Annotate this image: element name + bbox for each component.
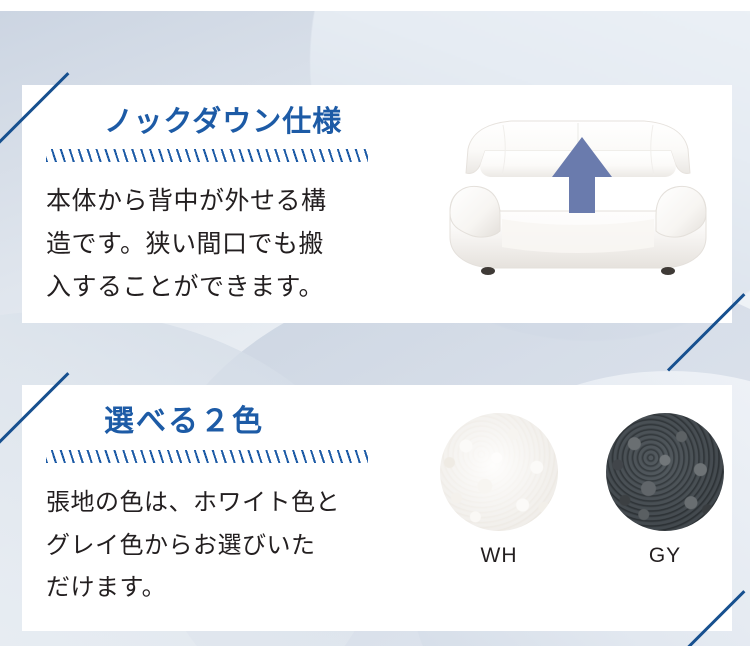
knockdown-heading-underline [46,149,368,162]
knockdown-body-line-2: 造です。狭い間口でも搬 [46,222,381,265]
knockdown-body-line-1: 本体から背中が外せる構 [46,179,381,222]
white-fabric-swatch[interactable] [440,413,558,531]
assembly-up-arrow-icon [550,135,614,215]
knockdown-heading: ノックダウン仕様 [46,107,422,136]
fabric-swatch-group: WH GY [440,413,724,568]
swatch-label-wh: WH [440,544,558,568]
swatch-label-gy: GY [606,544,724,568]
sofa-knockdown-illustration [428,101,728,301]
knockdown-body-text: 本体から背中が外せる構 造です。狭い間口でも搬 入することができます。 [46,179,381,308]
colors-body-line-1: 張地の色は、ホワイト色と [46,481,381,524]
product-feature-page: ノックダウン仕様 本体から背中が外せる構 造です。狭い間口でも搬 入することがで… [0,0,750,646]
knockdown-body-line-3: 入することができます。 [46,265,381,308]
colors-body-text: 張地の色は、ホワイト色と グレイ色からお選びいた だけます。 [46,481,381,609]
feature-card-knockdown: ノックダウン仕様 本体から背中が外せる構 造です。狭い間口でも搬 入することがで… [22,85,732,323]
feature-card-colors: 選べる２色 張地の色は、ホワイト色と グレイ色からお選びいた だけます。 WH [22,385,732,631]
colors-heading: 選べる２色 [46,407,422,437]
grey-fabric-swatch[interactable] [606,413,724,531]
knockdown-image-column [422,85,732,323]
swatch-item-gy[interactable]: GY [606,413,724,568]
swatch-item-wh[interactable]: WH [440,413,558,568]
colors-body-line-3: だけます。 [46,566,381,609]
knockdown-text-column: ノックダウン仕様 本体から背中が外せる構 造です。狭い間口でも搬 入することがで… [22,85,422,323]
colors-body-line-2: グレイ色からお選びいた [46,524,381,567]
colors-swatch-column: WH GY [422,385,732,631]
colors-heading-underline [46,450,368,463]
top-white-strip [0,0,750,11]
colors-text-column: 選べる２色 張地の色は、ホワイト色と グレイ色からお選びいた だけます。 [22,385,422,631]
